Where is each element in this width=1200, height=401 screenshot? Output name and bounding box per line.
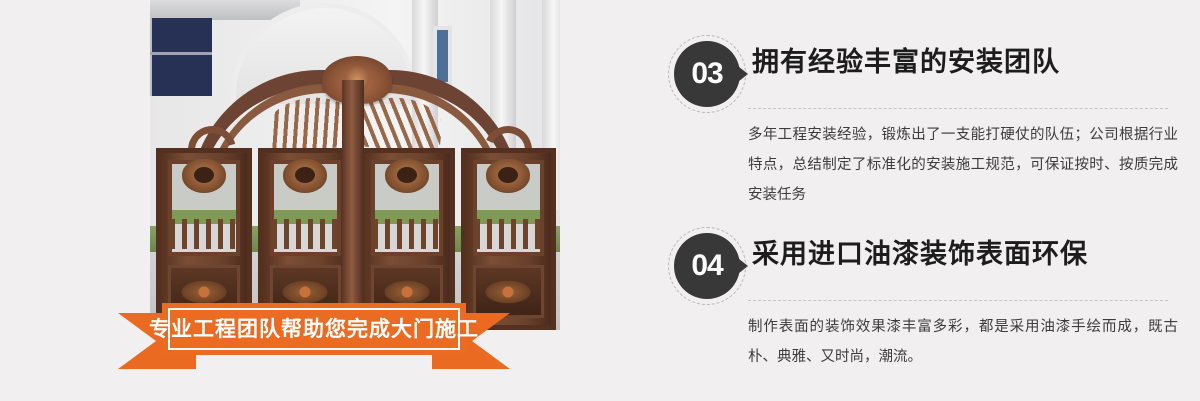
leaf-crest [182, 159, 226, 193]
leaf-rosette [178, 279, 230, 305]
leaf-crest [385, 159, 429, 193]
feature-list: 03 拥有经验丰富的安装团队 多年工程安装经验，锻炼出了一支能打硬仗的队伍；公司… [660, 0, 1200, 401]
badge-number: 03 [674, 41, 740, 107]
feature-heading: 采用进口油漆装饰表面环保 [752, 240, 1088, 270]
building-cornice [150, 0, 300, 20]
feature-badge-03: 03 [668, 35, 746, 113]
ribbon-body: 专业工程团队帮助您完成大门施工 [162, 303, 466, 355]
gate-photo [150, 0, 560, 330]
feature-divider [748, 108, 1168, 109]
gate-center-post [342, 80, 364, 330]
leaf-rosette [381, 279, 433, 305]
caption-ribbon: 专业工程团队帮助您完成大门施工 [118, 313, 510, 369]
leaf-rosette [279, 279, 331, 305]
ribbon-caption: 专业工程团队帮助您完成大门施工 [162, 303, 466, 355]
leaf-crest [486, 159, 530, 193]
leaf-balusters [272, 219, 340, 249]
leaf-balusters [475, 219, 543, 249]
photo-background [150, 0, 560, 330]
leaf-balusters [170, 219, 238, 249]
bronze-gate [156, 52, 556, 330]
promo-section: 专业工程团队帮助您完成大门施工 03 拥有经验丰富的安装团队 多年工程安装经验，… [0, 0, 1200, 401]
badge-number: 04 [674, 233, 740, 299]
feature-description: 多年工程安装经验，锻炼出了一支能打硬仗的队伍；公司根据行业特点，总结制定了标准化… [748, 120, 1178, 210]
leaf-crest [283, 159, 327, 193]
leaf-balusters [373, 219, 441, 249]
feature-divider [748, 300, 1168, 301]
feature-badge-04: 04 [668, 227, 746, 305]
feature-description: 制作表面的装饰效果漆丰富多彩，都是采用油漆手绘而成，既古朴、典雅、又时尚，潮流。 [748, 312, 1178, 372]
leaf-lower-panel [473, 265, 545, 318]
feature-heading: 拥有经验丰富的安装团队 [752, 48, 1060, 78]
gate-leaf [461, 148, 557, 330]
leaf-rosette [482, 279, 534, 305]
